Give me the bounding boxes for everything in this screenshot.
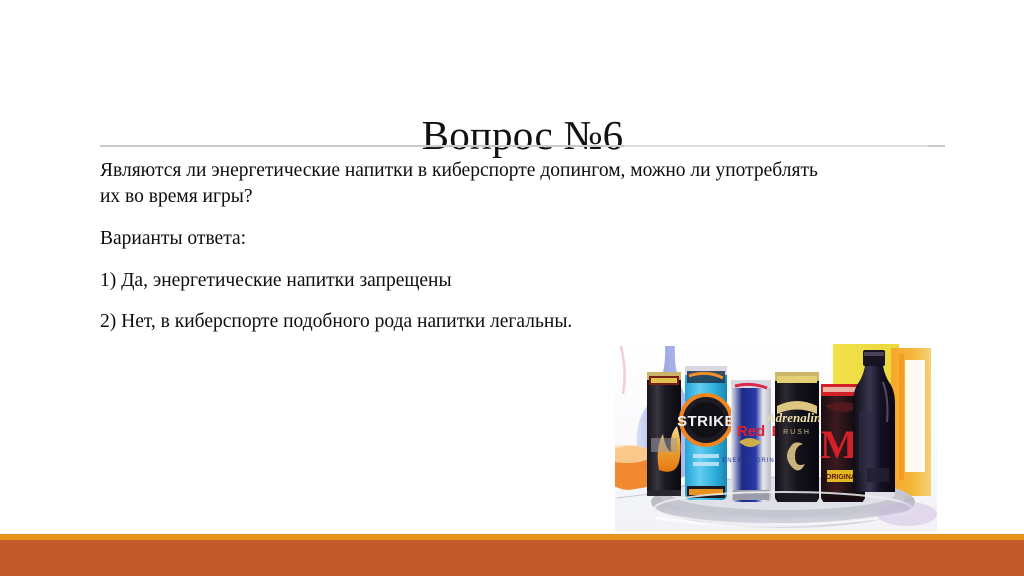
question-text: Являются ли энергетические напитки в киб… (100, 158, 840, 210)
svg-text:STRIKE: STRIKE (677, 413, 735, 430)
title-divider (100, 145, 945, 147)
answer-option-1: 1) Да, энергетические напитки запрещены (100, 268, 860, 294)
body-content: Являются ли энергетические напитки в киб… (100, 158, 860, 350)
svg-text:Red: Red (737, 423, 765, 440)
slide: Вопрос №6 Являются ли энергетические нап… (0, 0, 1024, 576)
strike-can: STRIKE (677, 366, 735, 500)
svg-text:RUSH: RUSH (783, 429, 811, 436)
svg-text:M: M (820, 422, 858, 467)
svg-text:ENERGY DRINK: ENERGY DRINK (722, 458, 780, 464)
variants-label: Варианты ответа: (100, 226, 860, 252)
adrenaline-rush-can: Adrenaline RUSH (766, 372, 827, 502)
accent-bar-thick (0, 540, 1024, 576)
answer-option-2: 2) Нет, в киберспорте подобного рода нап… (100, 309, 860, 335)
page-title: Вопрос №6 (100, 111, 945, 159)
black-flame-can (647, 372, 681, 496)
energy-drinks-illustration: STRIKE Red B ENERGY DRINK (615, 342, 937, 532)
energy-drinks-photo: STRIKE Red B ENERGY DRINK (615, 342, 937, 532)
svg-text:Adrenaline: Adrenaline (766, 410, 827, 425)
